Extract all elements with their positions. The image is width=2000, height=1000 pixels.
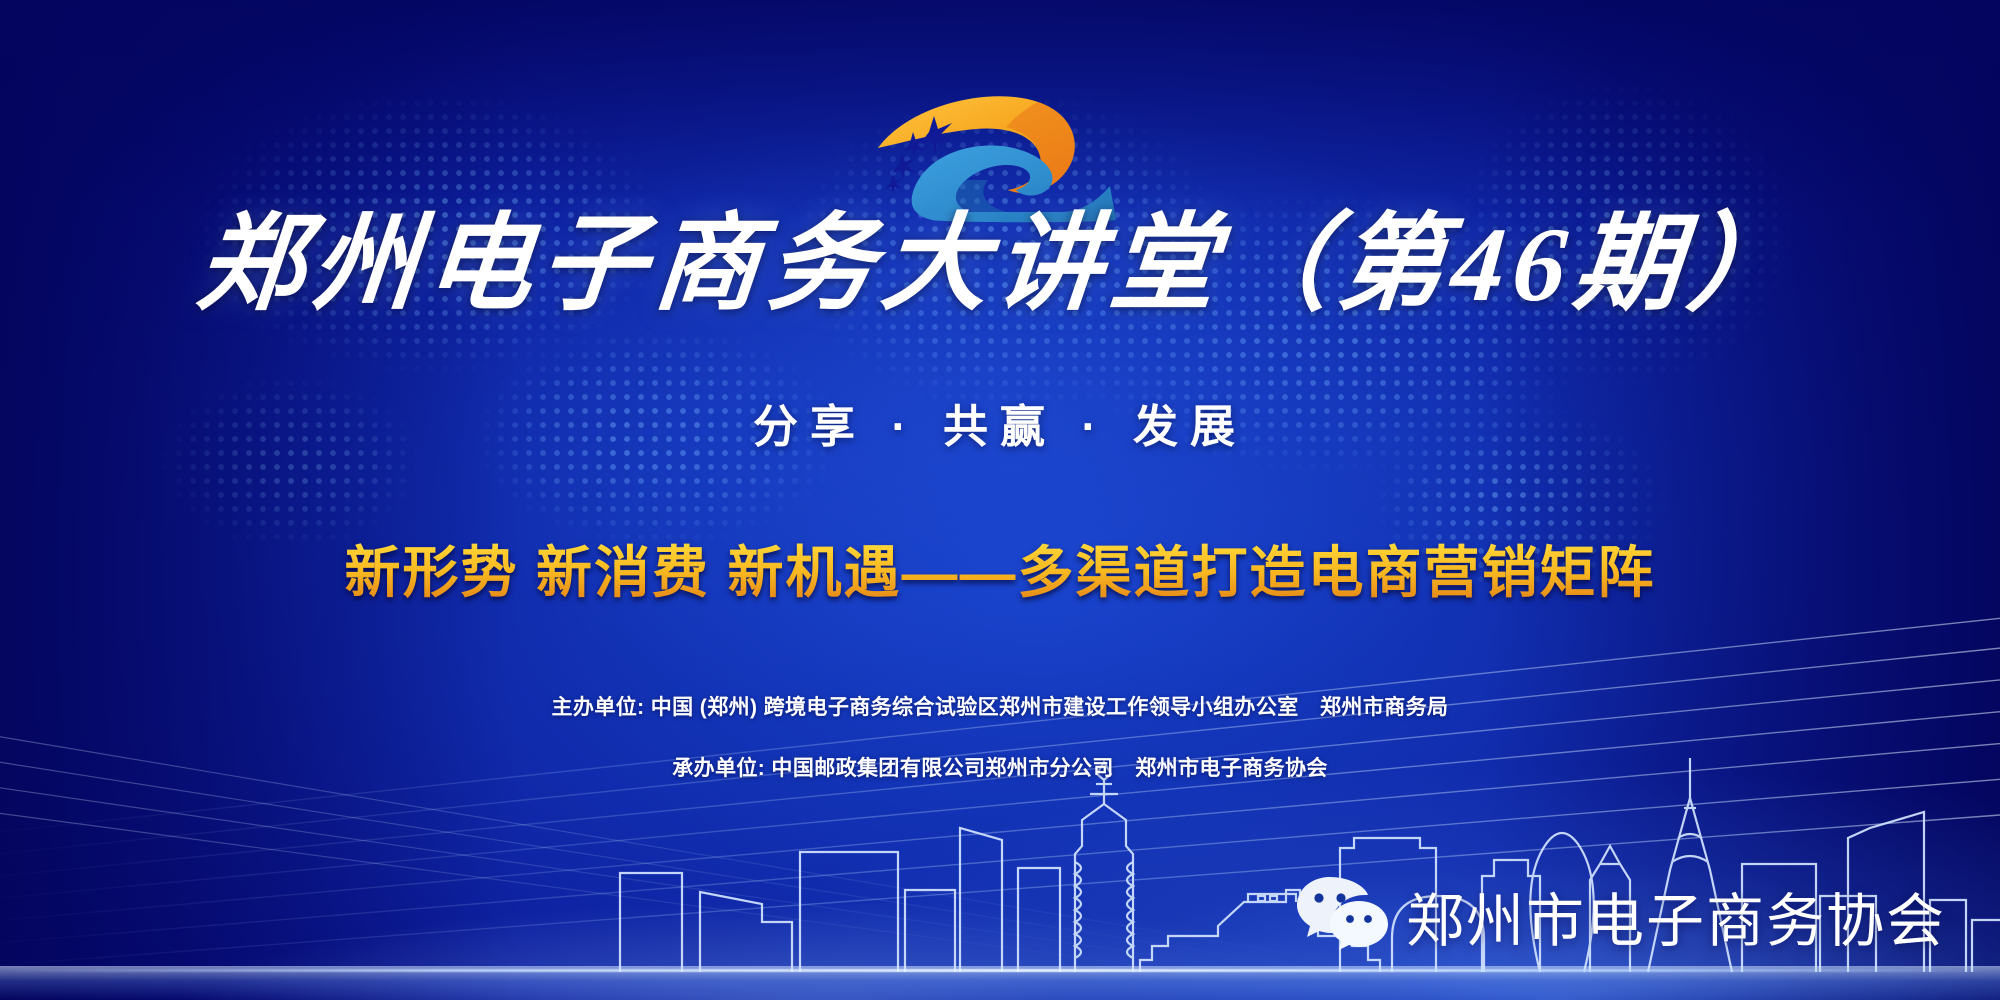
logo-star-tiny — [885, 174, 902, 194]
zhengzhou-ecommerce-swoosh-logo — [866, 86, 1156, 226]
wechat-account-badge: 郑州市电子商务协会 — [1296, 873, 1946, 958]
subtitle-slogan: 分享 · 共赢 · 发展 — [0, 390, 2000, 455]
wechat-account-name: 郑州市电子商务协会 — [1406, 874, 1946, 958]
session-headline: 新形势 新消费 新机遇——多渠道打造电商营销矩阵 — [0, 528, 2000, 609]
page-title: 郑州电子商务大讲堂（第46期） — [0, 208, 2000, 322]
wechat-icon-svg — [1296, 873, 1388, 953]
wechat-icon — [1296, 873, 1388, 958]
logo-svg — [866, 86, 1156, 226]
host-organization-line: 主办单位: 中国 (郑州) 跨境电子商务综合试验区郑州市建设工作领导小组办公室 … — [0, 691, 2000, 721]
co-organizer-line: 承办单位: 中国邮政集团有限公司郑州市分公司 郑州市电子商务协会 — [0, 752, 2000, 782]
event-poster: 郑州电子商务大讲堂（第46期） 分享 · 共赢 · 发展 新形势 新消费 新机遇… — [0, 0, 2000, 1000]
floor-line — [0, 969, 2000, 972]
logo-star-small — [892, 152, 916, 180]
